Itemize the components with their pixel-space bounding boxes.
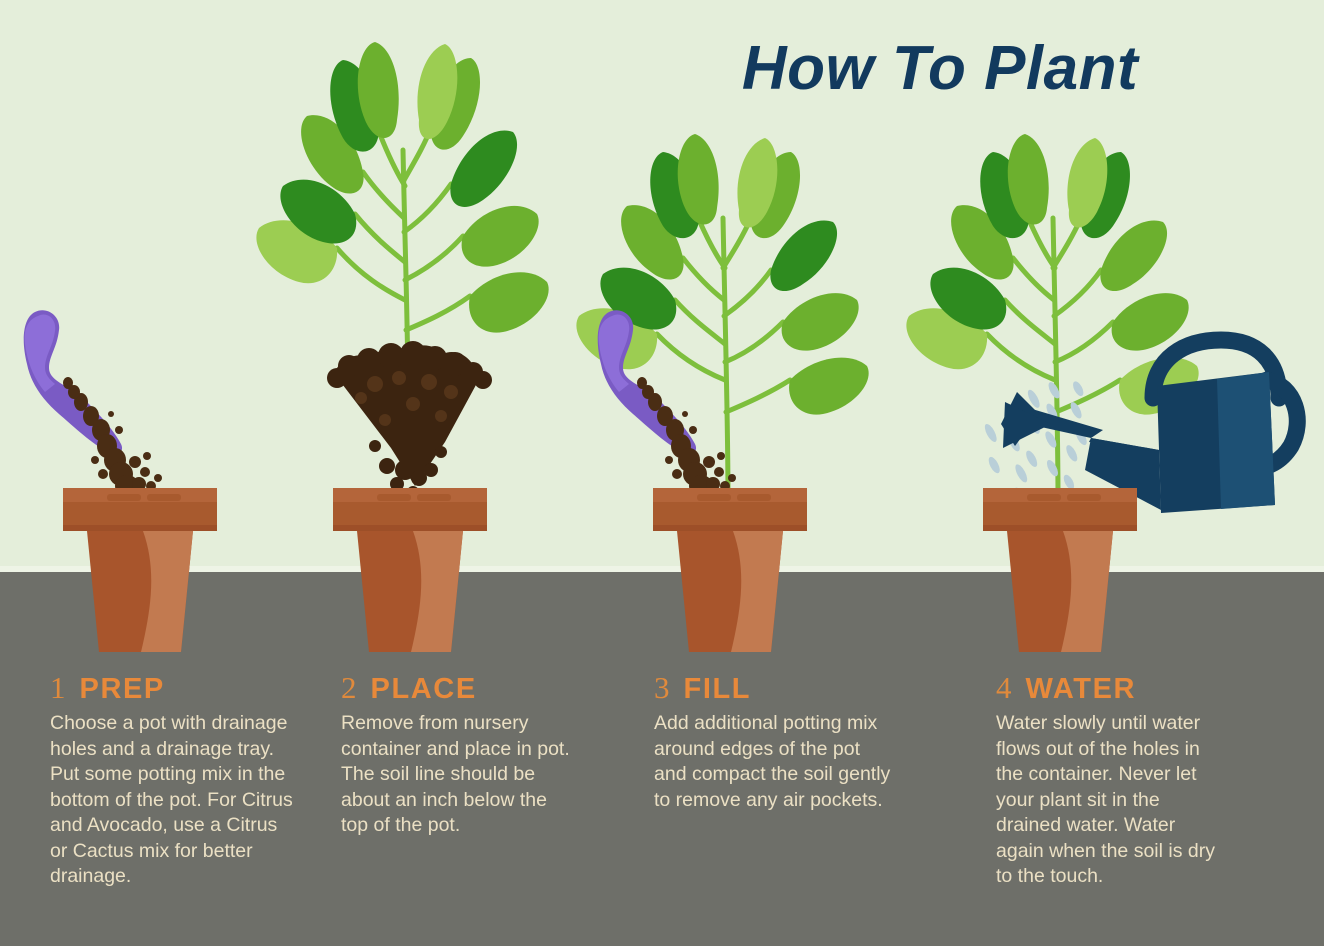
step-body-4: Water slowly until water flows out of th…	[996, 711, 1224, 890]
step-heading-1: 1PREP	[50, 670, 298, 700]
step-text-3: 3FILL Add additional potting mix around …	[654, 670, 894, 813]
step-title-3: FILL	[684, 673, 752, 706]
flower-pot-icon	[653, 488, 807, 652]
step-number-3: 3	[654, 670, 670, 706]
step-heading-4: 4WATER	[996, 670, 1224, 700]
scene-step-3	[565, 0, 905, 660]
step-text-4: 4WATER Water slowly until water flows ou…	[996, 670, 1224, 890]
flower-pot-icon	[333, 488, 487, 652]
soil-stream-icon	[637, 377, 736, 506]
step-heading-3: 3FILL	[654, 670, 894, 700]
step-text-1: 1PREP Choose a pot with drainage holes a…	[50, 670, 298, 890]
step-text-2: 2PLACE Remove from nursery container and…	[341, 670, 571, 839]
step-number-1: 1	[50, 670, 66, 706]
step-title-4: WATER	[1026, 673, 1137, 706]
scene-step-2	[245, 0, 585, 660]
step-number-4: 4	[996, 670, 1012, 706]
step-number-2: 2	[341, 670, 357, 706]
scene-step-4	[895, 0, 1324, 660]
infographic-poster: How To Plant	[0, 0, 1324, 946]
step-title-2: PLACE	[371, 673, 477, 706]
flower-pot-icon	[983, 488, 1137, 652]
soil-stream-icon	[63, 377, 162, 506]
step-body-3: Add additional potting mix around edges …	[654, 711, 894, 813]
step-heading-2: 2PLACE	[341, 670, 571, 700]
root-ball-icon	[327, 341, 492, 506]
step-body-1: Choose a pot with drainage holes and a d…	[50, 711, 298, 890]
step-body-2: Remove from nursery container and place …	[341, 711, 571, 839]
flower-pot-icon	[63, 488, 217, 652]
step-title-1: PREP	[80, 673, 165, 706]
